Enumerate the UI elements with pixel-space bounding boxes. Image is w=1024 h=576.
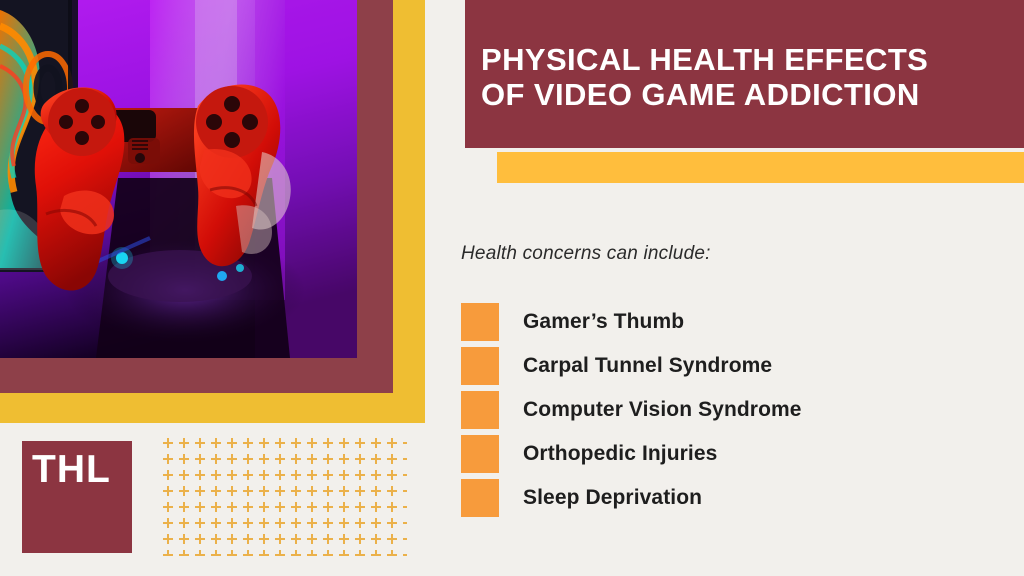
list-item: Sleep Deprivation xyxy=(461,476,1001,520)
plus-pattern-decoration xyxy=(163,438,407,556)
subtitle: Health concerns can include: xyxy=(461,243,711,265)
list-item-label: Carpal Tunnel Syndrome xyxy=(523,354,772,378)
bullet-square-icon xyxy=(461,347,499,385)
title-banner: PHYSICAL HEALTH EFFECTS OF VIDEO GAME AD… xyxy=(465,0,1024,148)
list-item: Orthopedic Injuries xyxy=(461,432,1001,476)
list-item: Carpal Tunnel Syndrome xyxy=(461,344,1001,388)
bullet-square-icon xyxy=(461,479,499,517)
bullet-square-icon xyxy=(461,303,499,341)
photo-maroon-frame xyxy=(0,0,393,393)
bullet-square-icon xyxy=(461,391,499,429)
page-title: PHYSICAL HEALTH EFFECTS OF VIDEO GAME AD… xyxy=(465,36,928,113)
list-item-label: Sleep Deprivation xyxy=(523,486,702,510)
title-accent-bar xyxy=(497,152,1024,183)
health-concerns-list: Gamer’s Thumb Carpal Tunnel Syndrome Com… xyxy=(461,300,1001,520)
list-item: Gamer’s Thumb xyxy=(461,300,1001,344)
list-item-label: Computer Vision Syndrome xyxy=(523,398,802,422)
infographic-canvas: PHYSICAL HEALTH EFFECTS OF VIDEO GAME AD… xyxy=(0,0,1024,576)
game-controller-photo xyxy=(0,0,357,358)
list-item: Computer Vision Syndrome xyxy=(461,388,1001,432)
thl-logo: THL xyxy=(22,441,132,553)
bullet-square-icon xyxy=(461,435,499,473)
photo-yellow-backing xyxy=(0,0,425,423)
thl-logo-text: THL xyxy=(22,441,132,489)
list-item-label: Gamer’s Thumb xyxy=(523,310,684,334)
list-item-label: Orthopedic Injuries xyxy=(523,442,717,466)
